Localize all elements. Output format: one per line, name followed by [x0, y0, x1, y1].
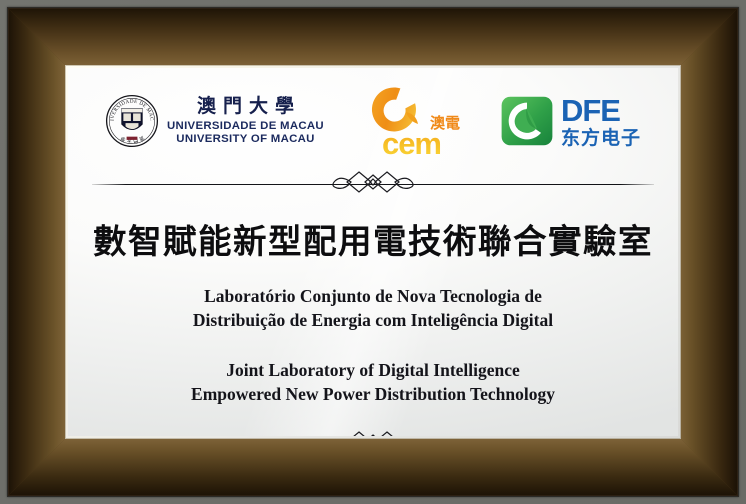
page-title: 數智賦能新型配用電技術聯合實驗室: [93, 214, 653, 263]
divider-bottom: [92, 432, 654, 437]
divider-top: [92, 171, 654, 197]
subtitle-en-line1: Joint Laboratory of Digital Intelligence: [191, 359, 555, 383]
plaque-scene: UNIVERSIDADE DE MACAU 澳門大學: [0, 0, 746, 504]
logo-row: UNIVERSIDADE DE MACAU 澳門大學: [68, 82, 678, 160]
logo-cem: 澳電 cem: [366, 82, 458, 160]
logo-university-of-macau: UNIVERSIDADE DE MACAU 澳門大學: [105, 94, 324, 148]
dfe-leaf-square-icon: [500, 94, 554, 148]
subtitle-pt-line1: Laboratório Conjunto de Nova Tecnologia …: [193, 285, 553, 309]
um-name-pt: UNIVERSIDADE DE MACAU: [167, 121, 324, 132]
frame-inner-bevel: UNIVERSIDADE DE MACAU 澳門大學: [65, 65, 681, 439]
university-of-macau-seal-icon: UNIVERSIDADE DE MACAU 澳門大學: [105, 94, 159, 148]
subtitle-en-line2: Empowered New Power Distribution Technol…: [191, 383, 555, 407]
picture-frame: UNIVERSIDADE DE MACAU 澳門大學: [7, 7, 739, 497]
subtitle-english: Joint Laboratory of Digital Intelligence…: [191, 359, 555, 406]
um-name-en: UNIVERSITY OF MACAU: [176, 134, 314, 145]
dfe-name-cn: 东方电子: [561, 129, 641, 148]
university-of-macau-wordmark: 澳門大學 UNIVERSIDADE DE MACAU UNIVERSITY OF…: [167, 97, 324, 146]
title-block: 數智賦能新型配用電技術聯合實驗室 Laboratório Conjunto de…: [68, 197, 678, 407]
subtitle-pt-line2: Distribuição de Energia com Inteligência…: [193, 309, 553, 333]
diamond-flourish-divider-icon: [321, 170, 425, 199]
plaque-board: UNIVERSIDADE DE MACAU 澳門大學: [68, 68, 678, 436]
dfe-name-en: DFE: [561, 95, 641, 126]
dfe-wordmark: DFE 东方电子: [561, 95, 641, 148]
cem-name-en: cem: [382, 126, 441, 162]
subtitle-portuguese: Laboratório Conjunto de Nova Tecnologia …: [193, 285, 553, 332]
diamond-flourish-divider-icon: [321, 430, 425, 436]
um-name-cn: 澳門大學: [190, 97, 301, 116]
logo-dfe: DFE 东方电子: [500, 94, 641, 148]
